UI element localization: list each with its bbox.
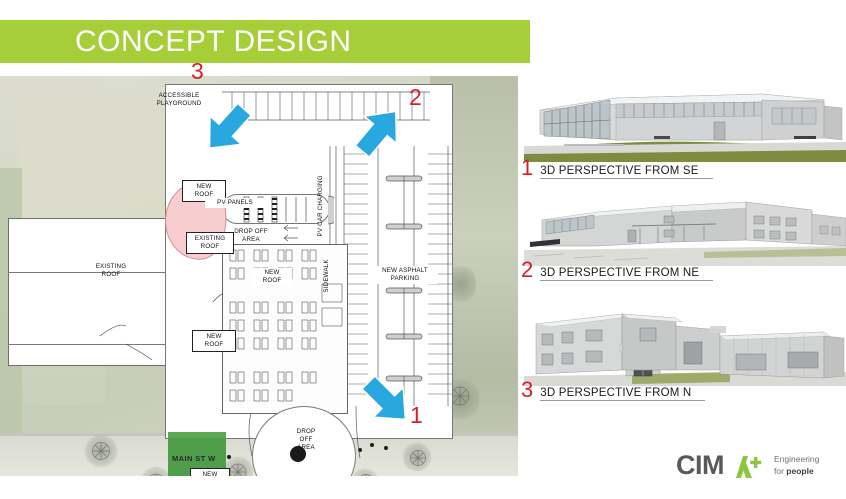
render-ne <box>524 196 846 266</box>
logo-tagline: Engineering for people <box>774 454 819 477</box>
logo-a-plus-mark <box>734 454 764 478</box>
label-main-street: MAIN ST W <box>172 454 216 463</box>
view-arrow-2 <box>348 98 414 160</box>
perspective-3-image <box>524 308 846 386</box>
perspective-2-number: 2 <box>521 260 533 281</box>
perspective-2: 2 3D PERSPECTIVE FROM NE <box>524 196 846 266</box>
cima-logo: CIM Engineering for people <box>676 452 819 479</box>
site-plan: ACCESSIBLE PLAYGROUND DROP OFF AREA NEW … <box>0 76 518 476</box>
logo-tagline-line2: for people <box>774 466 819 477</box>
perspective-3-number: 3 <box>521 380 533 401</box>
label-new-roof-bottom: NEW ROOF <box>192 330 236 352</box>
label-pv-panels: PV PANELS <box>205 198 265 208</box>
label-new-grass-area: NEW GRASS AREA <box>190 468 230 476</box>
logo-tagline-strong: people <box>786 466 813 476</box>
perspective-3-label: 3D PERSPECTIVE FROM N <box>540 387 705 401</box>
label-sidewalk: SIDEWALK <box>323 251 331 301</box>
perspective-2-caption: 2 3D PERSPECTIVE FROM NE <box>521 260 713 281</box>
perspective-1: 1 3D PERSPECTIVE FROM SE <box>524 84 846 162</box>
perspective-3-caption: 3 3D PERSPECTIVE FROM N <box>521 380 705 401</box>
perspective-1-caption: 1 3D PERSPECTIVE FROM SE <box>521 158 713 179</box>
perspective-1-label: 3D PERSPECTIVE FROM SE <box>540 165 712 179</box>
perspective-1-number: 1 <box>521 158 533 179</box>
label-drop-off-area-bottom: DROP OFF AREA <box>286 428 326 451</box>
perspective-2-label: 3D PERSPECTIVE FROM NE <box>540 267 713 281</box>
slide-canvas: CONCEPT DESIGN <box>0 0 846 499</box>
page-title: CONCEPT DESIGN <box>0 25 352 59</box>
label-pv-car-charging: PV CAR CHARGING <box>317 171 325 241</box>
perspective-1-image <box>524 84 846 162</box>
title-banner: CONCEPT DESIGN <box>0 20 530 63</box>
logo-wordmark: CIM <box>676 452 724 479</box>
perspective-3: 3 3D PERSPECTIVE FROM N <box>524 308 846 386</box>
label-new-asphalt-parking: NEW ASPHALT PARKING <box>372 266 438 284</box>
label-existing-roof: EXISTING ROOF <box>85 263 137 279</box>
label-new-roof-mid: NEW ROOF <box>252 268 292 286</box>
marker-2: 2 <box>409 86 422 109</box>
render-n <box>524 308 846 386</box>
label-existing-roof-upper: EXISTING ROOF <box>186 232 234 254</box>
perspective-2-image <box>524 196 846 266</box>
marker-3: 3 <box>191 60 204 83</box>
view-arrow-3 <box>192 100 258 162</box>
marker-1: 1 <box>410 404 423 427</box>
render-se <box>524 84 846 162</box>
logo-tagline-prefix: for <box>774 466 786 476</box>
logo-tagline-line1: Engineering <box>774 454 819 465</box>
